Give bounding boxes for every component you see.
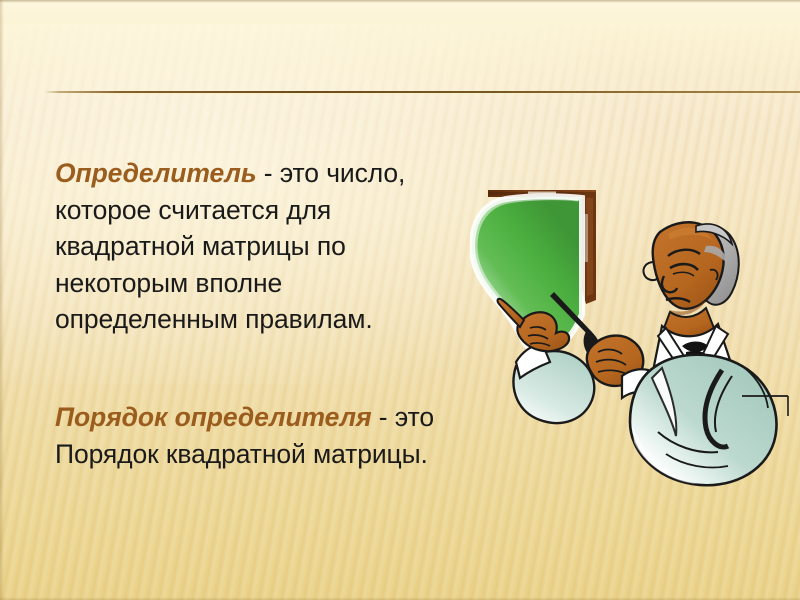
term-determinant-order: Порядок определителя <box>55 402 372 432</box>
definition-paragraph-order: Порядок определителя - это Порядок квадр… <box>55 399 455 472</box>
presenter-clipart-illustration <box>470 170 800 500</box>
presentation-slide: Определитель - это число, которое считае… <box>0 0 800 600</box>
presenter-suit-jacket <box>630 355 788 486</box>
header-divider-rule <box>44 91 800 94</box>
slide-top-edge <box>0 0 800 3</box>
presenter-head <box>643 222 738 315</box>
term-determinant: Определитель <box>55 158 256 188</box>
slide-left-edge <box>0 0 4 600</box>
divider-highlight-line <box>44 93 800 94</box>
definition-paragraph-determinant: Определитель - это число, которое считае… <box>55 155 455 338</box>
